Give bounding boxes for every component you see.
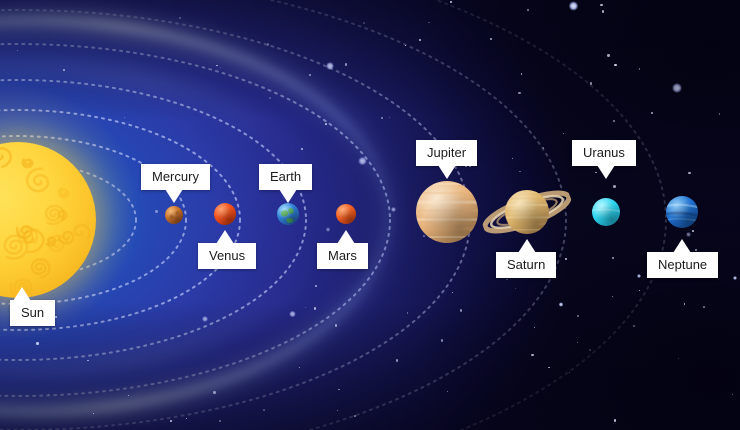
star: [87, 360, 88, 361]
label-pointer-icon: [518, 239, 536, 253]
star: [692, 230, 694, 232]
planet-shading: [214, 203, 236, 225]
label-text: Earth: [270, 169, 301, 184]
label-mars[interactable]: Mars: [317, 243, 368, 269]
star: [450, 1, 452, 3]
star: [48, 394, 49, 395]
planet-shading: [666, 196, 698, 228]
star: [389, 117, 390, 118]
star: [326, 62, 334, 70]
label-earth[interactable]: Earth: [259, 164, 312, 190]
star: [213, 391, 216, 394]
star: [565, 258, 567, 260]
star: [441, 339, 443, 341]
star: [686, 232, 691, 237]
label-text: Saturn: [507, 257, 545, 272]
sun-surface-swirls: [0, 142, 96, 298]
sun: [0, 142, 96, 298]
star: [600, 4, 602, 6]
star: [220, 67, 222, 69]
star: [534, 327, 535, 328]
star: [732, 394, 733, 395]
star: [358, 157, 367, 166]
star: [216, 65, 218, 67]
star: [614, 419, 616, 421]
star: [548, 367, 549, 368]
star: [219, 420, 222, 423]
star: [614, 64, 616, 66]
star: [36, 342, 39, 345]
star: [155, 210, 157, 212]
star: [639, 68, 641, 70]
label-pointer-icon: [13, 287, 31, 301]
star: [531, 354, 533, 356]
star: [309, 74, 311, 76]
star: [428, 22, 429, 23]
star: [314, 307, 317, 310]
label-text: Mars: [328, 248, 357, 263]
label-pointer-icon: [438, 165, 456, 179]
star: [452, 292, 453, 293]
star: [569, 1, 578, 10]
label-jupiter[interactable]: Jupiter: [416, 140, 477, 166]
star: [381, 117, 383, 119]
label-pointer-icon: [165, 189, 183, 203]
planet-mars: [336, 204, 356, 224]
star: [612, 257, 614, 259]
star: [569, 372, 570, 373]
star: [527, 9, 529, 11]
star: [267, 43, 270, 46]
star: [301, 148, 303, 150]
star: [63, 69, 65, 71]
sun-swirl-group: [0, 148, 90, 297]
star: [289, 311, 295, 317]
star: [93, 413, 94, 414]
star: [695, 249, 698, 252]
label-text: Sun: [21, 305, 44, 320]
star: [305, 307, 306, 308]
star: [345, 63, 348, 66]
star: [613, 120, 615, 122]
star: [490, 38, 492, 40]
star: [263, 409, 265, 411]
star: [577, 315, 579, 317]
star: [391, 207, 396, 212]
star: [338, 389, 340, 391]
planet-uranus: [592, 198, 620, 226]
star: [335, 324, 338, 327]
star: [202, 316, 208, 322]
star: [170, 420, 172, 422]
label-text: Uranus: [583, 145, 625, 160]
label-pointer-icon: [597, 165, 615, 179]
star: [589, 349, 591, 351]
star: [651, 112, 653, 114]
planet-shading: [336, 204, 356, 224]
star: [396, 359, 398, 361]
star: [363, 22, 366, 25]
label-pointer-icon: [337, 230, 355, 244]
planet-shading: [505, 190, 549, 234]
star: [326, 227, 331, 232]
planet-venus: [214, 203, 236, 225]
planet-neptune: [666, 196, 698, 228]
star: [637, 274, 641, 278]
star: [602, 10, 604, 12]
label-mercury[interactable]: Mercury: [141, 164, 210, 190]
label-pointer-icon: [216, 230, 234, 244]
star: [633, 325, 635, 327]
planet-shading: [592, 198, 620, 226]
star: [405, 45, 407, 47]
label-saturn[interactable]: Saturn: [496, 252, 556, 278]
star: [423, 235, 425, 237]
label-uranus[interactable]: Uranus: [572, 140, 636, 166]
star: [521, 73, 523, 75]
star: [688, 172, 690, 174]
star: [613, 185, 616, 188]
label-venus[interactable]: Venus: [198, 243, 256, 269]
star: [315, 285, 317, 287]
star: [128, 395, 129, 396]
star: [678, 358, 679, 359]
star: [577, 342, 578, 343]
planet-earth: [277, 203, 299, 225]
star: [563, 133, 564, 134]
star: [590, 82, 592, 84]
star: [337, 410, 339, 412]
star: [186, 418, 187, 419]
solar-system-diagram: SunMercuryVenusEarthMarsJupiterSaturnUra…: [0, 0, 740, 430]
planet-shading: [416, 181, 478, 243]
star: [684, 303, 686, 305]
star: [325, 123, 327, 125]
star: [407, 312, 408, 313]
star: [515, 288, 516, 289]
planet-shading: [277, 203, 299, 225]
star: [519, 171, 521, 173]
star: [559, 302, 563, 306]
star: [354, 415, 356, 417]
star: [512, 158, 513, 159]
star: [506, 279, 508, 281]
planet-mercury: [165, 206, 183, 224]
star: [703, 306, 705, 308]
star: [639, 290, 640, 291]
star: [543, 147, 545, 149]
star: [672, 83, 682, 93]
label-text: Jupiter: [427, 145, 466, 160]
star: [518, 92, 520, 94]
star: [733, 276, 737, 280]
label-pointer-icon: [673, 239, 691, 253]
star: [607, 54, 609, 56]
label-text: Venus: [209, 248, 245, 263]
star: [419, 39, 421, 41]
star: [612, 296, 613, 297]
planet-saturn: [505, 190, 549, 234]
star: [447, 391, 449, 393]
label-text: Mercury: [152, 169, 199, 184]
star: [17, 50, 18, 51]
label-text: Neptune: [658, 257, 707, 272]
star: [299, 367, 300, 368]
star: [460, 309, 462, 311]
star: [124, 117, 125, 118]
label-neptune[interactable]: Neptune: [647, 252, 718, 278]
planet-jupiter: [416, 181, 478, 243]
star: [269, 97, 271, 99]
label-pointer-icon: [279, 189, 297, 203]
sun-body: [0, 142, 96, 298]
label-sun[interactable]: Sun: [10, 300, 55, 326]
star: [179, 17, 181, 19]
star: [719, 113, 720, 114]
planet-shading: [165, 206, 183, 224]
